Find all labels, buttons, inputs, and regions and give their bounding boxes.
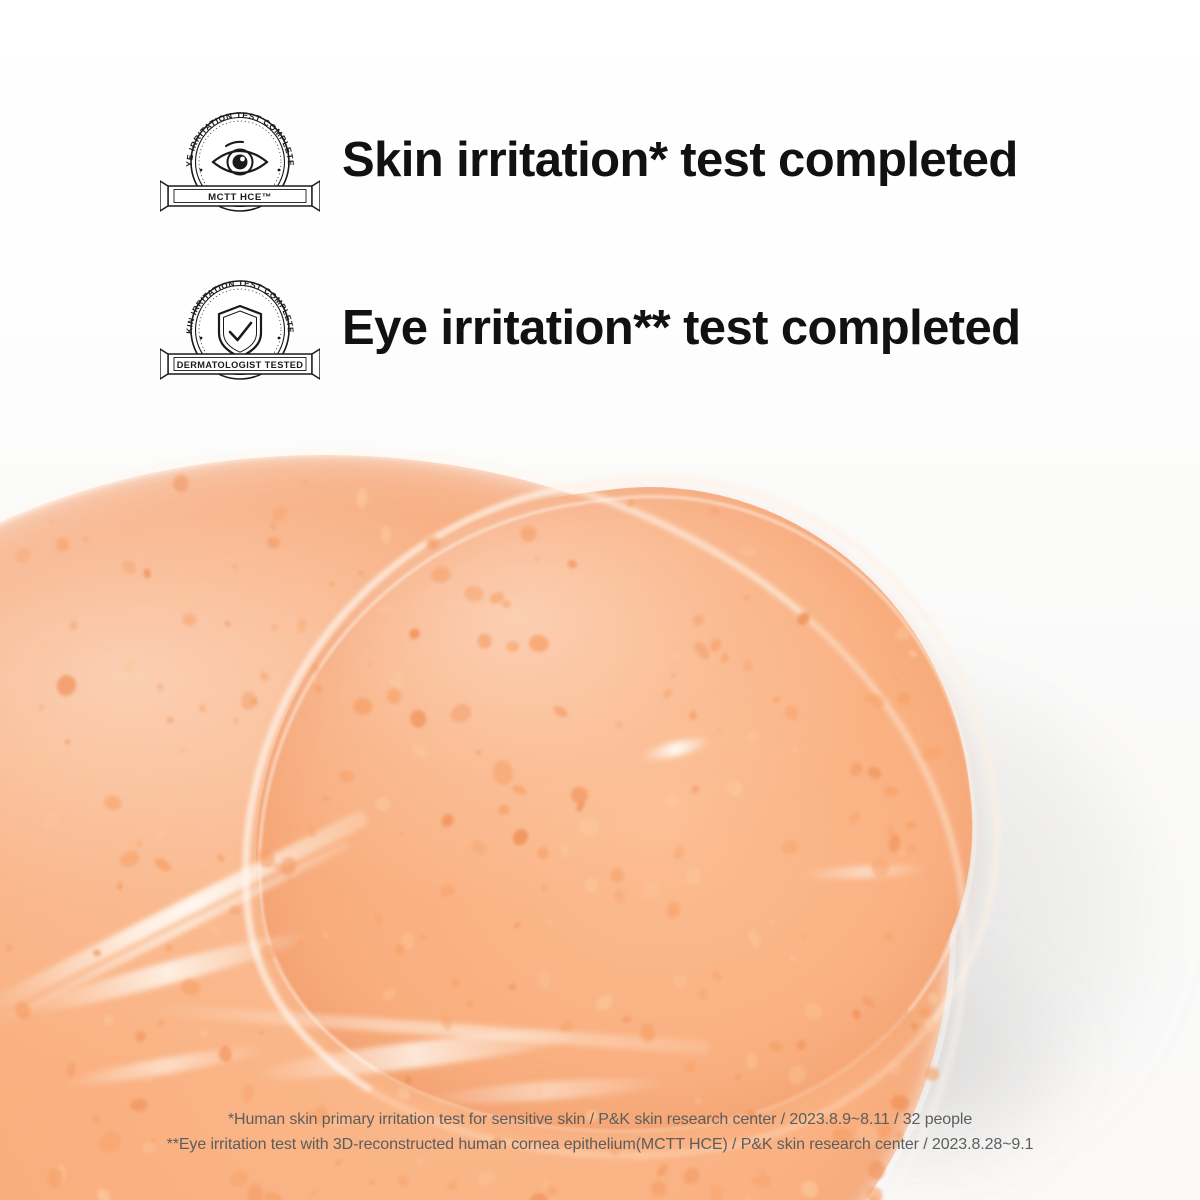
seal-ribbon-label: MCTT HCE™	[208, 192, 272, 203]
footnote-eye-test: **Eye irritation test with 3D-reconstruc…	[0, 1133, 1200, 1158]
product-detail-image: EYE IRRITATION TEST COMPLETED MCTT HCE™ …	[0, 0, 1200, 1200]
footnote-block: *Human skin primary irritation test for …	[0, 1108, 1200, 1158]
claim-row-skin-irritation: EYE IRRITATION TEST COMPLETED MCTT HCE™ …	[160, 100, 1018, 220]
seal-ribbon-label: DERMATOLOGIST TESTED	[177, 360, 304, 370]
eye-irritation-seal-icon: EYE IRRITATION TEST COMPLETED MCTT HCE™	[160, 100, 320, 220]
headline-skin-irritation: Skin irritation* test completed	[342, 132, 1018, 188]
claim-row-eye-irritation: SKIN IRRITATION TEST COMPLETED DERMATOLO…	[160, 268, 1020, 388]
headline-eye-irritation: Eye irritation** test completed	[342, 300, 1020, 356]
dermatologist-tested-seal-icon: SKIN IRRITATION TEST COMPLETED DERMATOLO…	[160, 268, 320, 388]
footnote-skin-test: *Human skin primary irritation test for …	[0, 1108, 1200, 1133]
